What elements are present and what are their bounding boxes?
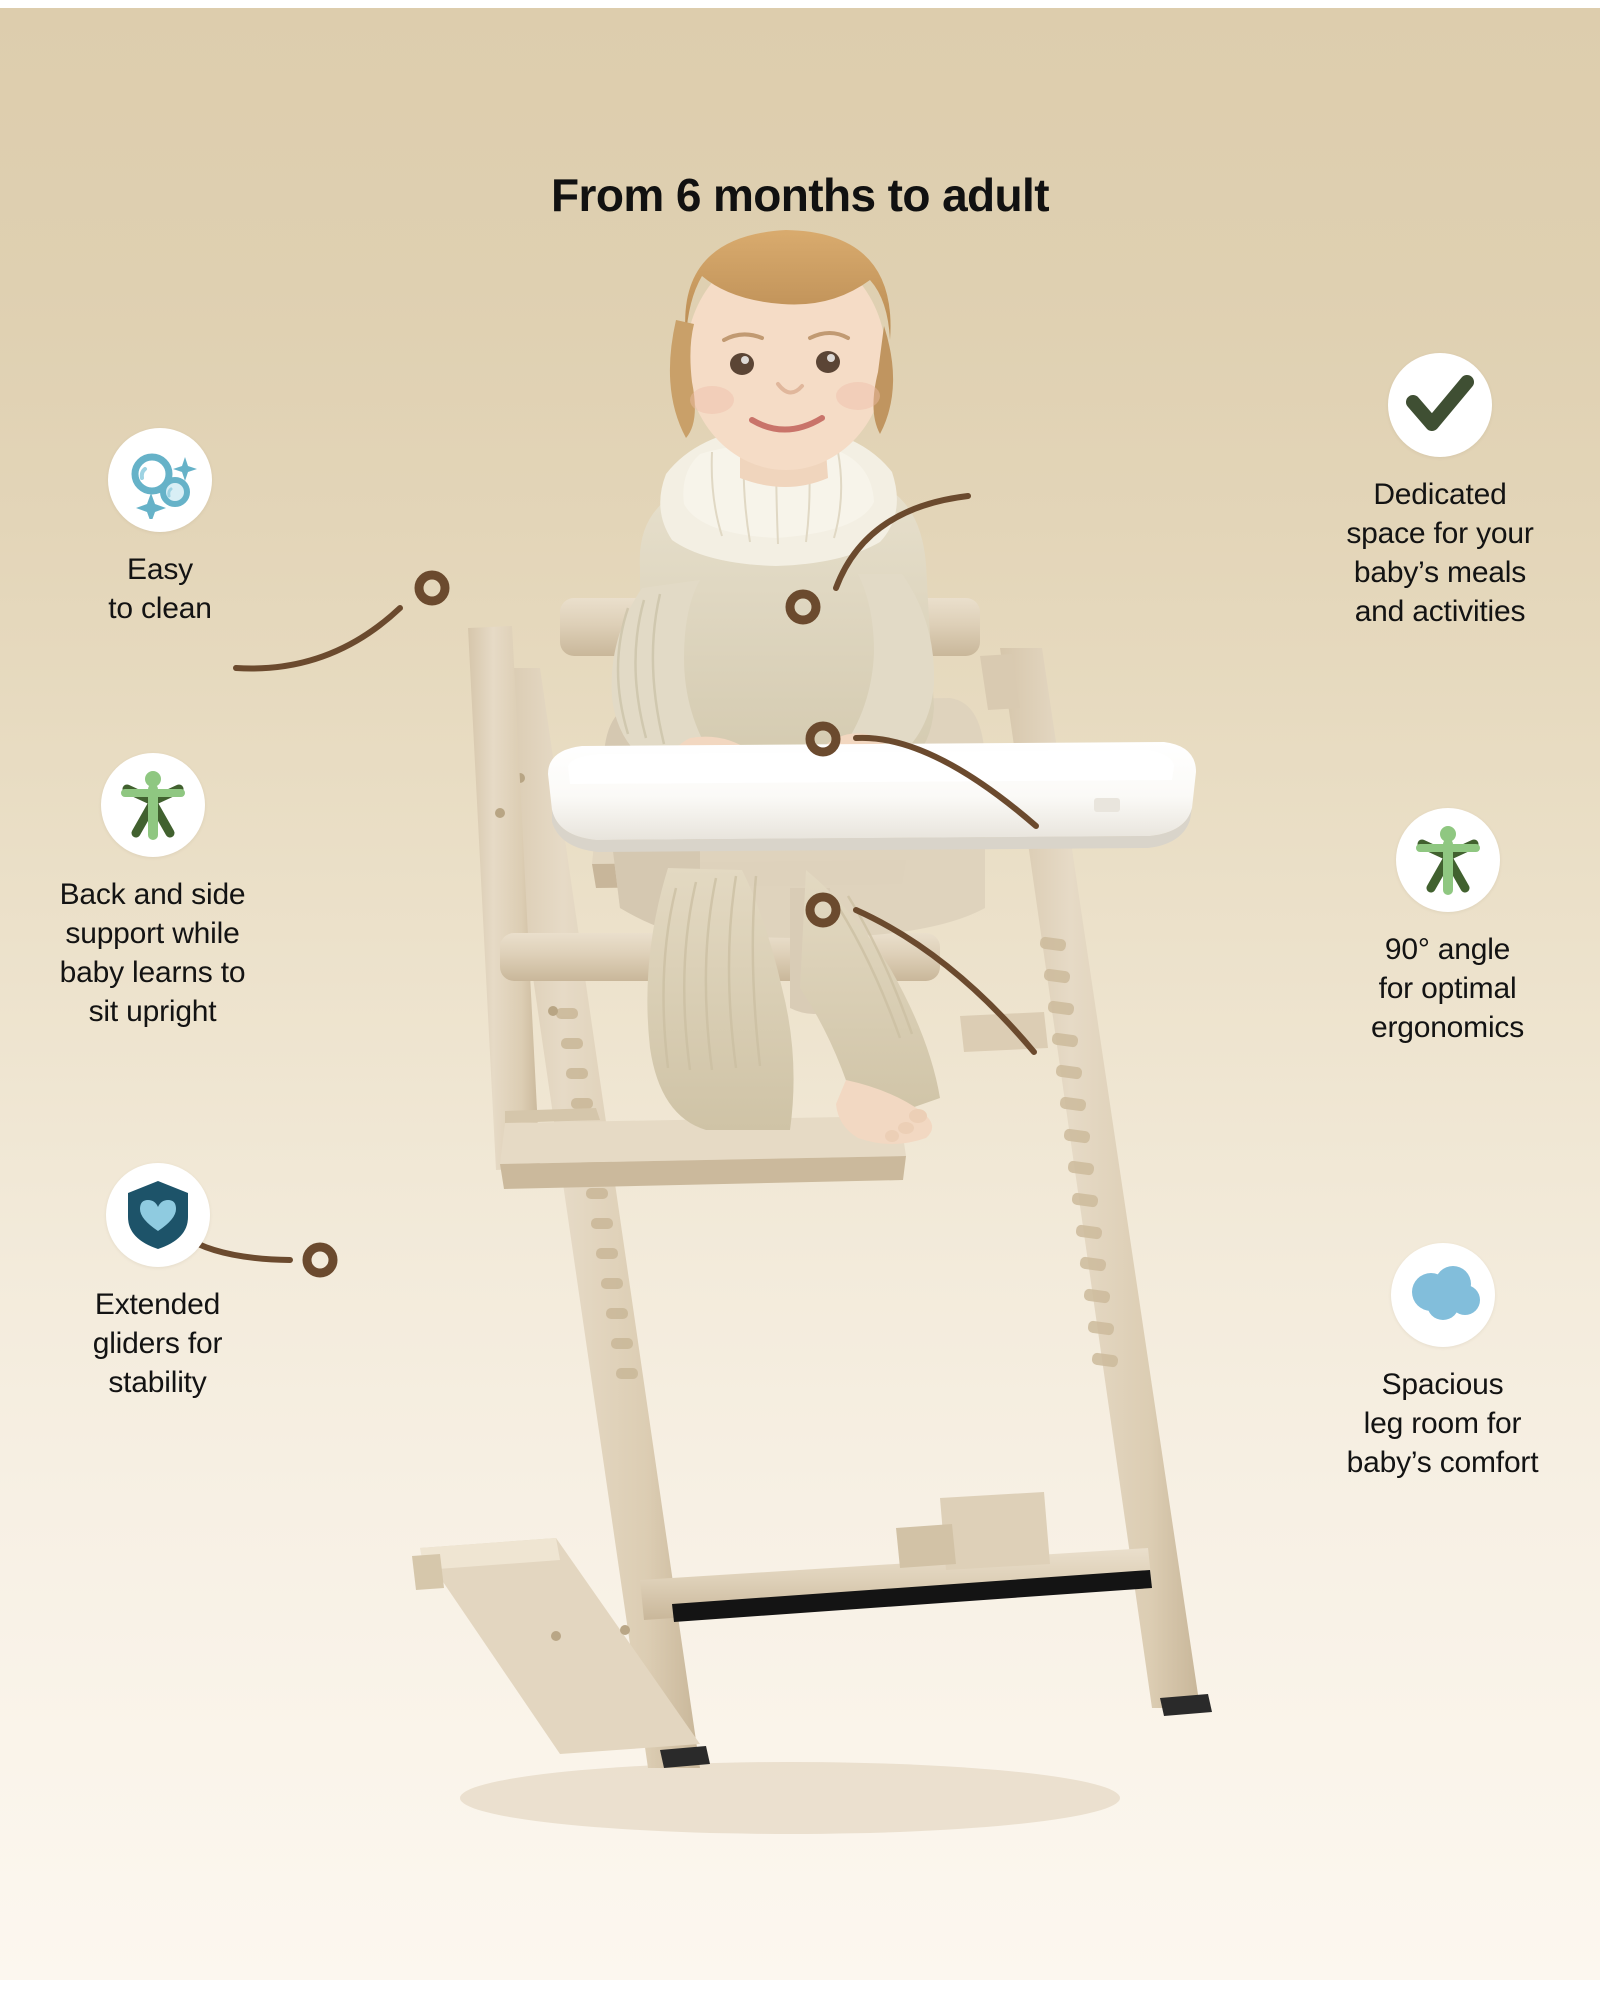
feature-back-and-side-support: Back and side support while baby learns … <box>0 753 305 1031</box>
feature-dedicated-space: Dedicated space for your baby’s meals an… <box>1290 353 1590 631</box>
feature-spacious-leg-room: Spacious leg room for baby’s comfort <box>1285 1243 1600 1482</box>
feature-caption: Back and side support while baby learns … <box>0 875 305 1031</box>
ergonomic-person-icon <box>1396 808 1500 912</box>
checkmark-icon <box>1388 353 1492 457</box>
cloud-icon <box>1391 1243 1495 1347</box>
feature-caption: Dedicated space for your baby’s meals an… <box>1290 475 1590 631</box>
feature-caption: Easy to clean <box>20 550 300 628</box>
ergonomic-person-icon <box>101 753 205 857</box>
feature-extended-gliders: Extended gliders for stability <box>15 1163 300 1402</box>
baby <box>612 230 940 1144</box>
feature-caption: Spacious leg room for baby’s comfort <box>1285 1365 1600 1482</box>
feature-ninety-degree-angle: 90° angle for optimal ergonomics <box>1305 808 1590 1047</box>
feature-easy-to-clean: Easy to clean <box>20 428 300 628</box>
feature-caption: Extended gliders for stability <box>15 1285 300 1402</box>
bubbles-sparkle-icon <box>108 428 212 532</box>
infographic-page: From 6 months to adult <box>0 0 1600 2000</box>
shield-heart-icon <box>106 1163 210 1267</box>
chair-base-glider <box>412 1492 1212 1768</box>
infographic-canvas: From 6 months to adult <box>0 8 1600 1980</box>
chair-tray <box>548 742 1196 852</box>
feature-caption: 90° angle for optimal ergonomics <box>1305 930 1590 1047</box>
